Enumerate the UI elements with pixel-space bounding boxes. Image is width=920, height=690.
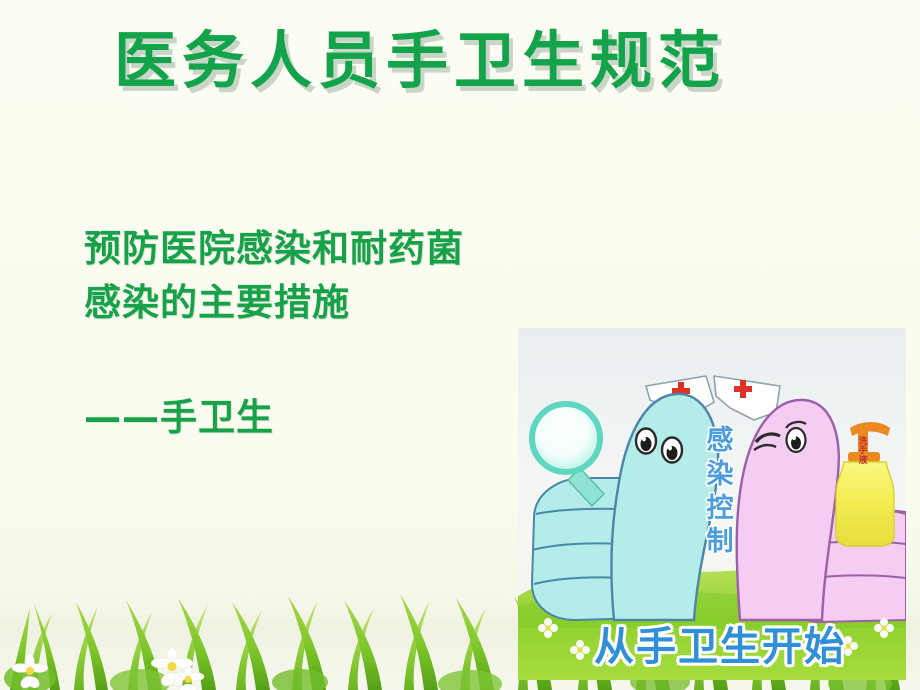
infection-control-vertical-text: 感 染 控 制 — [699, 424, 741, 559]
subtitle-line-2: 感染的主要措施 — [84, 276, 514, 330]
illustration-caption: 从手卫生开始 — [560, 614, 880, 672]
attribution-line: ——手卫生 — [84, 387, 274, 441]
vertical-char-3: 控 — [699, 492, 741, 526]
vertical-char-2: 染 — [699, 458, 741, 492]
presentation-slide: 医务人员手卫生规范 预防医院感染和耐药菌 感染的主要措施 ——手卫生 — [0, 0, 920, 690]
vertical-char-1: 感 — [699, 424, 741, 458]
subtitle-line-1: 预防医院感染和耐药菌 — [84, 222, 514, 276]
vertical-char-4: 制 — [699, 525, 741, 559]
page-title: 医务人员手卫生规范 — [0, 28, 840, 93]
subtitle-block: 预防医院感染和耐药菌 感染的主要措施 — [84, 222, 514, 329]
soap-label-char-3: 液 — [856, 457, 870, 466]
soap-bottle-label: 洗 手 液 — [856, 438, 870, 466]
cyan-thumb-character — [532, 376, 718, 620]
pink-thumb-character — [714, 376, 906, 622]
